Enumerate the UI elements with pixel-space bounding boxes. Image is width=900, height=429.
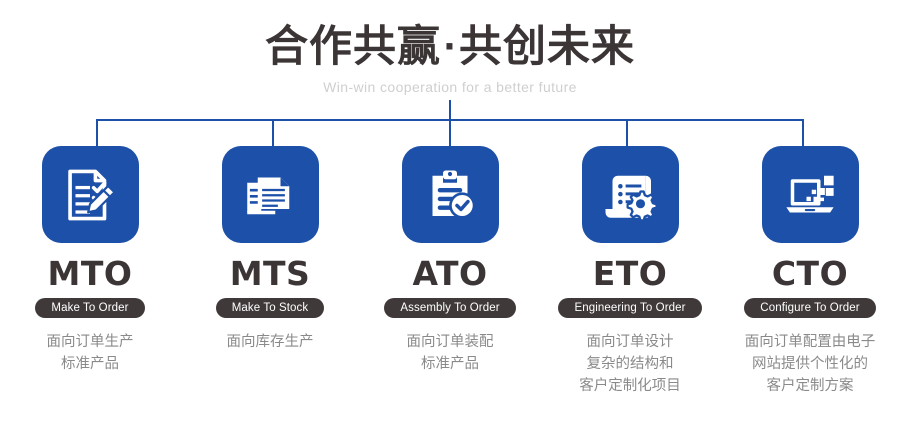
ato-description: 面向订单装配 标准产品 [407,331,494,375]
stacked-documents-icon [242,167,298,223]
cto-desc-line-3: 客户定制方案 [745,375,876,397]
mto-code: MTO [48,255,133,293]
mts-desc-line-1: 面向库存生产 [227,331,314,353]
laptop-pixels-icon [782,167,838,223]
cto-icon-box[interactable] [762,146,859,243]
connector-drop-3 [449,119,451,146]
cto-desc-line-2: 网站提供个性化的 [745,353,876,375]
ato-code: ATO [412,255,487,293]
connector-bracket [0,100,900,150]
ato-desc-line-2: 标准产品 [407,353,494,375]
page-title-part2: 共创未来 [459,22,635,72]
mts-description: 面向库存生产 [227,331,314,353]
connector-drop-4 [626,119,628,146]
clipboard-check-icon [422,167,478,223]
eto-desc-line-1: 面向订单设计 [579,331,681,353]
ato-icon-box[interactable] [402,146,499,243]
cto-badge: Configure To Order [744,298,875,318]
page-header: 合作共赢·共创未来 Win-win cooperation for a bett… [0,22,900,96]
mto-desc-line-2: 标准产品 [47,353,134,375]
cto-desc-line-1: 面向订单配置由电子 [745,331,876,353]
page-title-part1: 合作共赢 [265,22,441,72]
ato-desc-line-1: 面向订单装配 [407,331,494,353]
eto-badge: Engineering To Order [558,298,701,318]
document-checklist-pencil-icon [61,166,119,224]
eto-description: 面向订单设计 复杂的结构和 客户定制化项目 [579,331,681,397]
mode-column-ato[interactable]: ATO Assembly To Order 面向订单装配 标准产品 [360,146,540,397]
mode-columns: MTO Make To Order 面向订单生产 标准产品 [0,146,900,397]
eto-icon-box[interactable] [582,146,679,243]
cto-code: CTO [772,255,848,293]
document-gear-icon [602,167,658,223]
mto-desc-line-1: 面向订单生产 [47,331,134,353]
connector-drop-1 [96,119,98,146]
eto-desc-line-3: 客户定制化项目 [579,375,681,397]
mto-badge: Make To Order [35,298,144,318]
mto-description: 面向订单生产 标准产品 [47,331,134,375]
mode-column-mto[interactable]: MTO Make To Order 面向订单生产 标准产品 [0,146,180,397]
eto-desc-line-2: 复杂的结构和 [579,353,681,375]
mts-icon-box[interactable] [222,146,319,243]
mode-column-mts[interactable]: MTS Make To Stock 面向库存生产 [180,146,360,397]
page-title-separator: · [441,27,459,67]
connector-drop-5 [802,119,804,146]
connector-drop-2 [272,119,274,146]
page-subtitle: Win-win cooperation for a better future [0,78,900,96]
mode-column-cto[interactable]: CTO Configure To Order 面向订单配置由电子 网站提供个性化… [720,146,900,397]
eto-code: ETO [593,255,668,293]
mode-column-eto[interactable]: ETO Engineering To Order 面向订单设计 复杂的结构和 客… [540,146,720,397]
cto-description: 面向订单配置由电子 网站提供个性化的 客户定制方案 [745,331,876,397]
connector-stem [449,100,451,120]
ato-badge: Assembly To Order [384,298,515,318]
page-title: 合作共赢·共创未来 [0,22,900,72]
mto-icon-box[interactable] [42,146,139,243]
mts-code: MTS [230,255,311,293]
mts-badge: Make To Stock [216,298,325,318]
